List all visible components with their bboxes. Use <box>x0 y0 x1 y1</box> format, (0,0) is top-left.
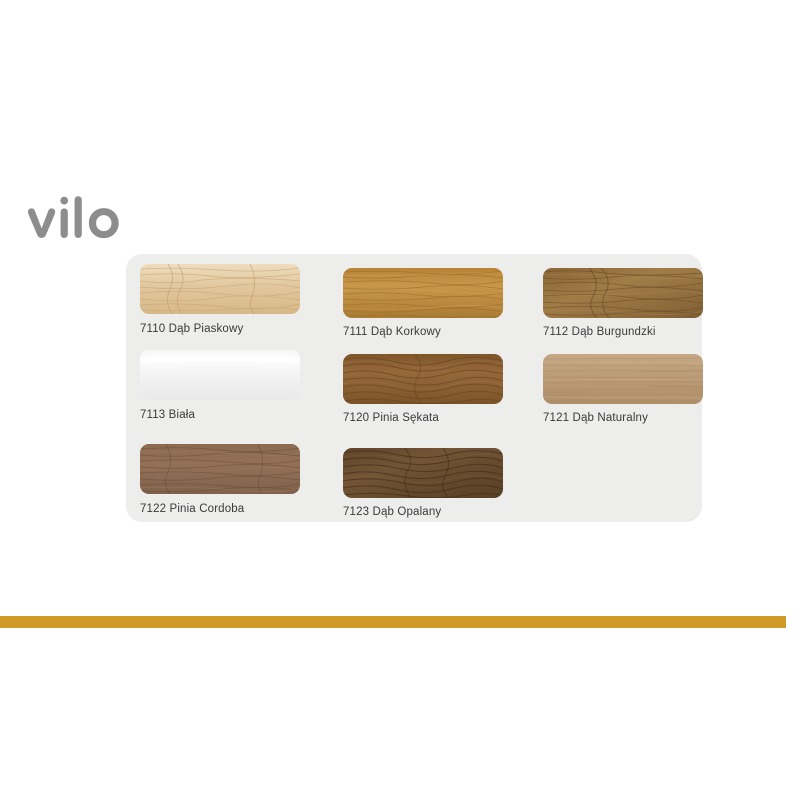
swatch-grid: 7110 Dąb Piaskowy <box>136 262 696 518</box>
wood-grain-texture-icon <box>140 444 300 494</box>
swatch-chip-7122[interactable] <box>140 444 300 494</box>
wood-grain-texture-icon <box>343 354 503 404</box>
swatch-item-7123[interactable]: 7123 Dąb Opalany <box>343 448 503 518</box>
swatch-chip-7110[interactable] <box>140 264 300 314</box>
swatch-label-7122: 7122 Pinia Cordoba <box>140 503 300 515</box>
swatch-label-7113: 7113 Biała <box>140 409 300 421</box>
accent-bar <box>0 616 786 628</box>
wood-grain-texture-icon <box>543 354 703 404</box>
swatch-chip-7111[interactable] <box>343 268 503 318</box>
swatch-label-7121: 7121 Dąb Naturalny <box>543 412 703 424</box>
swatch-chip-7112[interactable] <box>543 268 703 318</box>
swatch-item-7110[interactable]: 7110 Dąb Piaskowy <box>140 264 300 335</box>
wood-grain-texture-icon <box>140 264 300 314</box>
swatch-item-7122[interactable]: 7122 Pinia Cordoba <box>140 444 300 515</box>
swatch-label-7110: 7110 Dąb Piaskowy <box>140 323 300 335</box>
swatch-label-7111: 7111 Dąb Korkowy <box>343 326 503 338</box>
swatch-item-7111[interactable]: 7111 Dąb Korkowy <box>343 268 503 338</box>
swatch-label-7123: 7123 Dąb Opalany <box>343 506 503 518</box>
wood-grain-texture-icon <box>343 268 503 318</box>
swatch-label-7120: 7120 Pinia Sękata <box>343 412 503 424</box>
swatch-item-7120[interactable]: 7120 Pinia Sękata <box>343 354 503 424</box>
swatch-chip-7120[interactable] <box>343 354 503 404</box>
swatch-item-7112[interactable]: 7112 Dąb Burgundzki <box>543 268 703 338</box>
swatch-item-7121[interactable]: 7121 Dąb Naturalny <box>543 354 703 424</box>
solid-white-texture-icon <box>140 350 300 400</box>
swatch-chip-7123[interactable] <box>343 448 503 498</box>
swatch-item-7113[interactable]: 7113 Biała <box>140 350 300 421</box>
brand-logo: vilo <box>26 196 146 252</box>
swatch-chip-7113[interactable] <box>140 350 300 400</box>
vilo-wordmark-icon <box>26 196 146 252</box>
swatch-label-7112: 7112 Dąb Burgundzki <box>543 326 703 338</box>
swatch-panel: 7110 Dąb Piaskowy <box>126 254 702 522</box>
wood-grain-texture-icon <box>543 268 703 318</box>
wood-grain-texture-icon <box>343 448 503 498</box>
swatch-chip-7121[interactable] <box>543 354 703 404</box>
